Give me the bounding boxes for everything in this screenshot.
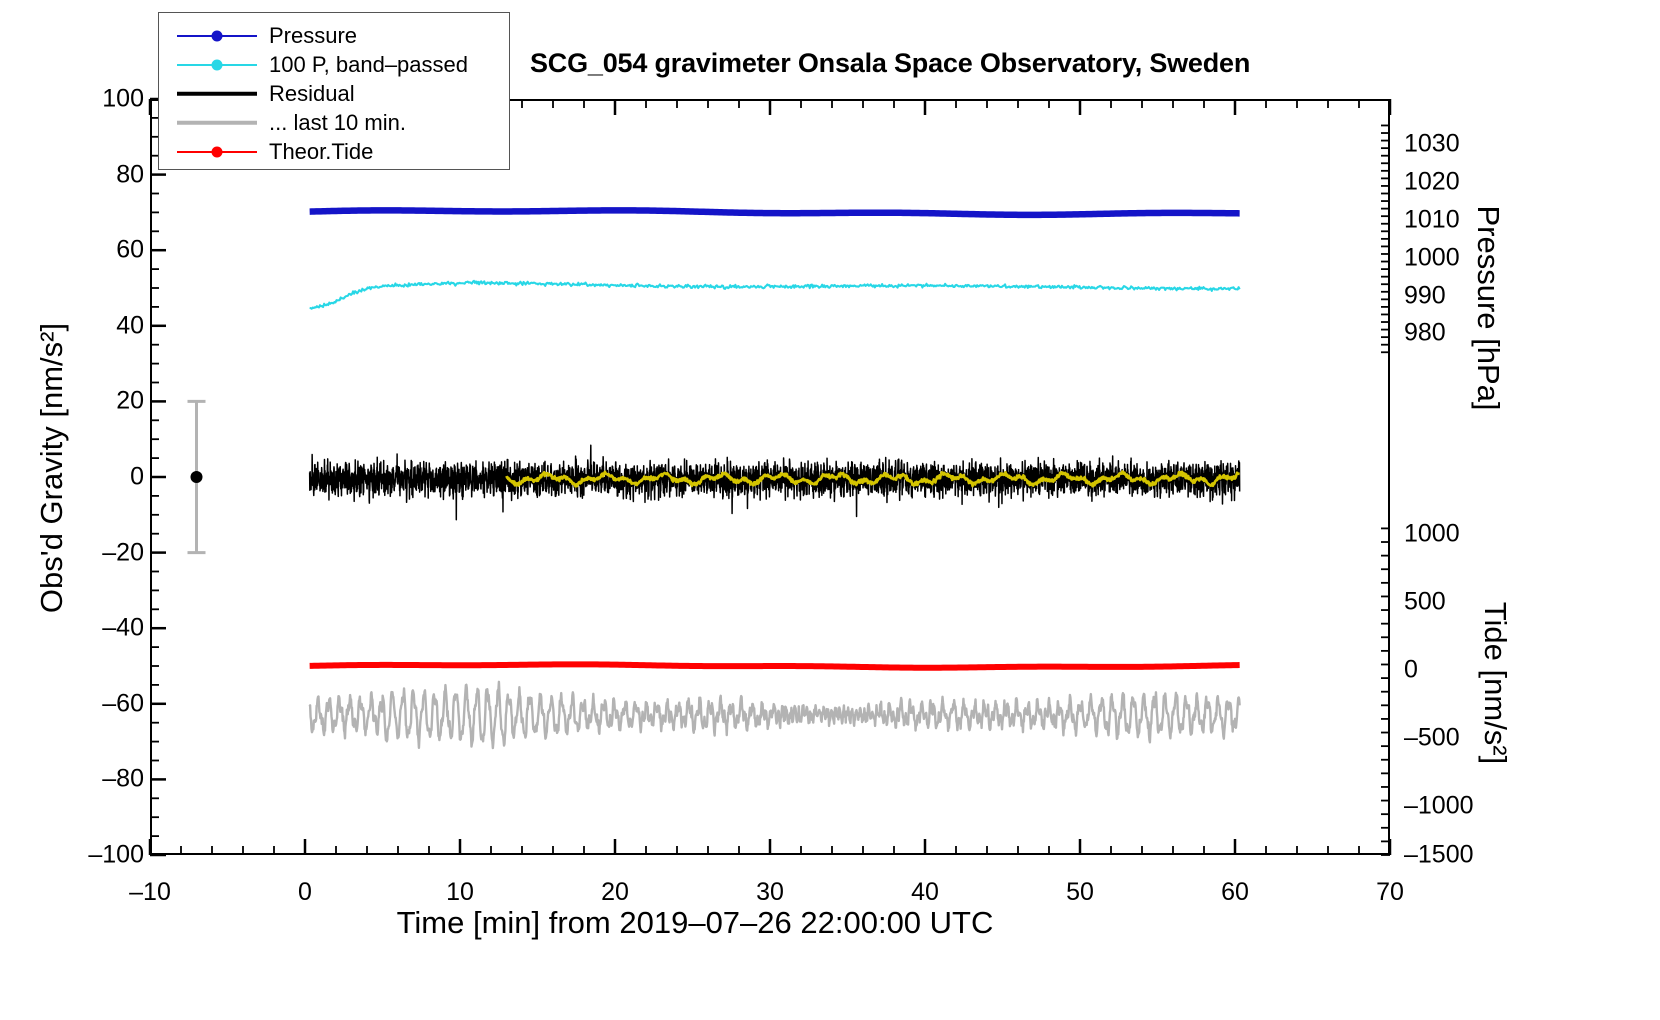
- page-title: SCG_054 gravimeter Onsala Space Observat…: [530, 48, 1250, 79]
- x-axis-title: Time [min] from 2019–07–26 22:00:00 UTC: [0, 905, 1390, 941]
- y-tick-tide-2: 0: [1404, 655, 1494, 684]
- y-tick-left-8: –60: [102, 689, 144, 718]
- y-tick-tide-3: –500: [1404, 723, 1494, 752]
- y-tick-tide-0: 1000: [1404, 519, 1494, 548]
- legend-label: ... last 10 min.: [269, 110, 406, 136]
- legend-label: Theor.Tide: [269, 139, 373, 165]
- y-tick-left-1: 80: [116, 160, 144, 189]
- y-tick-left-7: –40: [102, 614, 144, 643]
- y-tick-left-9: –80: [102, 765, 144, 794]
- y-tick-tide-4: –1000: [1404, 791, 1494, 820]
- y-tick-pressure-1: 1020: [1404, 168, 1494, 197]
- y-tick-left-6: –20: [102, 538, 144, 567]
- legend-item-2[interactable]: Residual: [159, 79, 509, 108]
- y-tick-left-5: 0: [130, 463, 144, 492]
- x-tick-1: 0: [265, 878, 345, 907]
- x-tick-7: 60: [1195, 878, 1275, 907]
- y-axis-left-title: Obs'd Gravity [nm/s²]: [34, 238, 70, 698]
- x-tick-4: 30: [730, 878, 810, 907]
- y-tick-left-10: –100: [88, 841, 144, 870]
- x-tick-2: 10: [420, 878, 500, 907]
- y-tick-tide-1: 500: [1404, 587, 1494, 616]
- y-tick-left-0: 100: [102, 85, 144, 114]
- legend-label: Residual: [269, 81, 355, 107]
- y-tick-pressure-5: 980: [1404, 319, 1494, 348]
- data-traces: [150, 99, 1390, 855]
- legend-swatch-icon: [177, 26, 257, 46]
- x-tick-5: 40: [885, 878, 965, 907]
- y-tick-pressure-3: 1000: [1404, 243, 1494, 272]
- y-tick-tide-5: –1500: [1404, 841, 1494, 870]
- gravimeter-chart-figure: SCG_054 gravimeter Onsala Space Observat…: [0, 0, 1660, 1020]
- legend-label: 100 P, band–passed: [269, 52, 468, 78]
- legend-item-3[interactable]: ... last 10 min.: [159, 108, 509, 137]
- x-tick-6: 50: [1040, 878, 1120, 907]
- legend-item-0[interactable]: Pressure: [159, 21, 509, 50]
- x-tick-3: 20: [575, 878, 655, 907]
- x-tick-8: 70: [1350, 878, 1430, 907]
- legend-swatch-icon: [177, 142, 257, 162]
- y-tick-left-4: 20: [116, 387, 144, 416]
- legend: Pressure100 P, band–passedResidual... la…: [158, 12, 510, 170]
- legend-swatch-icon: [177, 84, 257, 104]
- legend-item-1[interactable]: 100 P, band–passed: [159, 50, 509, 79]
- y-tick-left-3: 40: [116, 311, 144, 340]
- y-tick-pressure-2: 1010: [1404, 205, 1494, 234]
- y-tick-pressure-0: 1030: [1404, 130, 1494, 159]
- legend-item-4[interactable]: Theor.Tide: [159, 137, 509, 166]
- legend-label: Pressure: [269, 23, 357, 49]
- y-tick-left-2: 60: [116, 236, 144, 265]
- x-tick-0: –10: [110, 878, 190, 907]
- y-tick-pressure-4: 990: [1404, 281, 1494, 310]
- legend-swatch-icon: [177, 55, 257, 75]
- legend-swatch-icon: [177, 113, 257, 133]
